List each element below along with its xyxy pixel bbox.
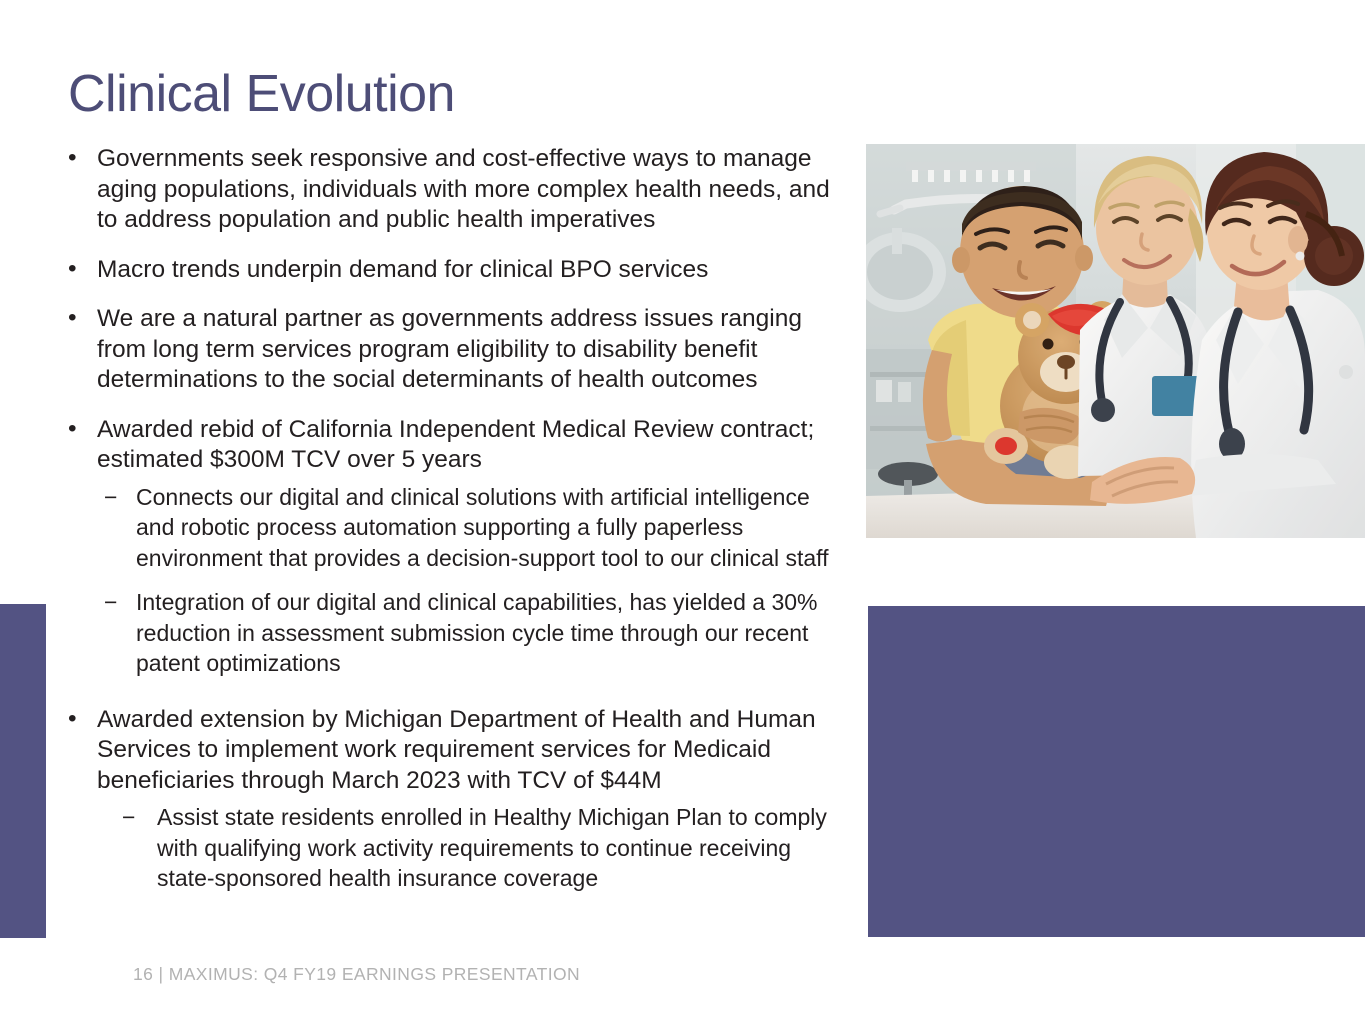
dash-marker-icon: − [104,482,117,513]
decorative-band-right [868,606,1365,937]
clinic-photo [866,144,1365,538]
bullet-list: • Governments seek responsive and cost-e… [64,144,854,908]
sub-bullet-text: Assist state residents enrolled in Healt… [157,804,827,891]
bullet-marker-icon: • [68,143,77,174]
bullet-marker-icon: • [68,303,77,334]
bullet-marker-icon: • [68,254,77,285]
bullet-text: We are a natural partner as governments … [97,304,854,396]
bullet-item: • Awarded rebid of California Independen… [64,415,854,476]
bullet-text: Awarded rebid of California Independent … [97,415,854,476]
bullet-item: • Macro trends underpin demand for clini… [64,255,854,286]
presentation-slide: Clinical Evolution • Governments seek re… [0,0,1365,1024]
clinic-photo-illustration [866,144,1365,538]
sub-bullet-item: − Connects our digital and clinical solu… [64,482,854,574]
bullet-marker-icon: • [68,704,77,735]
bullet-text: Awarded extension by Michigan Department… [97,705,854,797]
dash-marker-icon: − [122,802,135,833]
bullet-item: • We are a natural partner as government… [64,304,854,396]
sub-bullet-text: Integration of our digital and clinical … [136,589,817,676]
bullet-item: • Governments seek responsive and cost-e… [64,144,854,236]
bullet-item: • Awarded extension by Michigan Departme… [64,705,854,797]
sub-bullet-item: − Assist state residents enrolled in Hea… [64,802,854,894]
decorative-band-left [0,604,46,938]
slide-footer: 16 | MAXIMUS: Q4 FY19 EARNINGS PRESENTAT… [133,964,580,985]
bullet-text: Governments seek responsive and cost-eff… [97,144,854,236]
bullet-marker-icon: • [68,414,77,445]
sub-bullet-item: − Integration of our digital and clinica… [64,587,854,679]
sub-bullet-text: Connects our digital and clinical soluti… [136,484,829,571]
page-title: Clinical Evolution [68,66,455,122]
dash-marker-icon: − [104,587,117,618]
bullet-text: Macro trends underpin demand for clinica… [97,255,854,286]
